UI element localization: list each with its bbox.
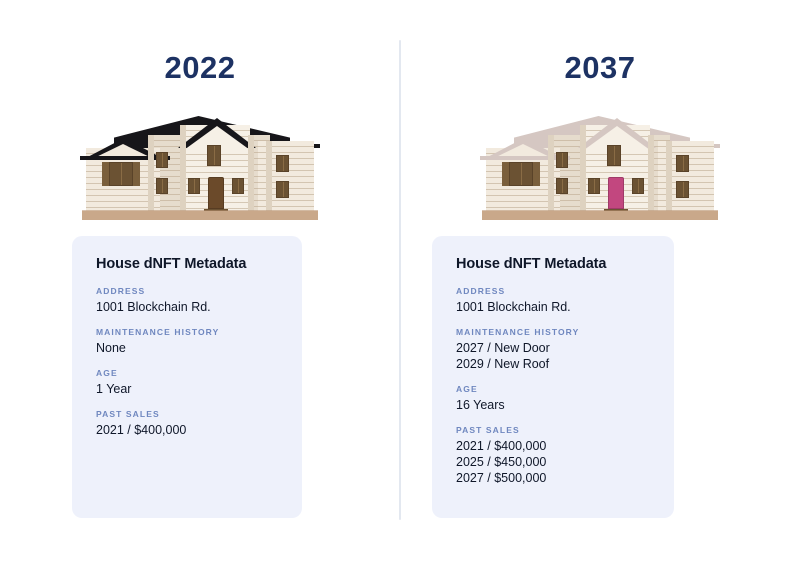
metadata-field: PAST SALES2021 / $400,0002025 / $450,000…: [456, 425, 650, 486]
field-value-line: 1 Year: [96, 381, 278, 397]
field-label: AGE: [456, 384, 650, 394]
metadata-field: ADDRESS1001 Blockchain Rd.: [96, 286, 278, 315]
metadata-field: AGE1 Year: [96, 368, 278, 397]
field-value-line: 2021 / $400,000: [96, 422, 278, 438]
field-label: PAST SALES: [456, 425, 650, 435]
field-value-line: 2025 / $450,000: [456, 454, 650, 470]
field-label: MAINTENANCE HISTORY: [456, 327, 650, 337]
panel-2037: 2037: [400, 0, 800, 573]
metadata-field: AGE16 Years: [456, 384, 650, 413]
field-label: ADDRESS: [456, 286, 650, 296]
comparison-stage: 2022: [0, 0, 800, 573]
field-value-line: 2027 / New Door: [456, 340, 650, 356]
field-value-line: 2021 / $400,000: [456, 438, 650, 454]
field-value-line: 2027 / $500,000: [456, 470, 650, 486]
field-value: 1001 Blockchain Rd.: [96, 299, 278, 315]
year-heading-2037: 2037: [400, 50, 800, 86]
card-title: House dNFT Metadata: [96, 256, 278, 272]
field-value: 2021 / $400,0002025 / $450,0002027 / $50…: [456, 438, 650, 486]
field-value: 2027 / New Door2029 / New Roof: [456, 340, 650, 372]
field-value: None: [96, 340, 278, 356]
metadata-field: PAST SALES2021 / $400,000: [96, 409, 278, 438]
metadata-field: MAINTENANCE HISTORYNone: [96, 327, 278, 356]
metadata-field: MAINTENANCE HISTORY2027 / New Door2029 /…: [456, 327, 650, 372]
metadata-card-2022: House dNFT Metadata ADDRESS1001 Blockcha…: [72, 236, 302, 518]
field-value-line: 16 Years: [456, 397, 650, 413]
house-illustration-2037: [400, 104, 800, 224]
field-value: 2021 / $400,000: [96, 422, 278, 438]
metadata-fields: ADDRESS1001 Blockchain Rd.MAINTENANCE HI…: [456, 286, 650, 486]
year-heading-2022: 2022: [0, 50, 400, 86]
house-illustration-2022: [0, 104, 400, 224]
field-label: ADDRESS: [96, 286, 278, 296]
card-title: House dNFT Metadata: [456, 256, 650, 272]
field-value: 1001 Blockchain Rd.: [456, 299, 650, 315]
metadata-card-2037: House dNFT Metadata ADDRESS1001 Blockcha…: [432, 236, 674, 518]
field-label: MAINTENANCE HISTORY: [96, 327, 278, 337]
field-label: AGE: [96, 368, 278, 378]
metadata-fields: ADDRESS1001 Blockchain Rd.MAINTENANCE HI…: [96, 286, 278, 438]
field-value-line: 2029 / New Roof: [456, 356, 650, 372]
panel-2022: 2022: [0, 0, 400, 573]
field-value: 16 Years: [456, 397, 650, 413]
field-value-line: 1001 Blockchain Rd.: [456, 299, 650, 315]
field-value-line: None: [96, 340, 278, 356]
field-value: 1 Year: [96, 381, 278, 397]
field-value-line: 1001 Blockchain Rd.: [96, 299, 278, 315]
field-label: PAST SALES: [96, 409, 278, 419]
metadata-field: ADDRESS1001 Blockchain Rd.: [456, 286, 650, 315]
